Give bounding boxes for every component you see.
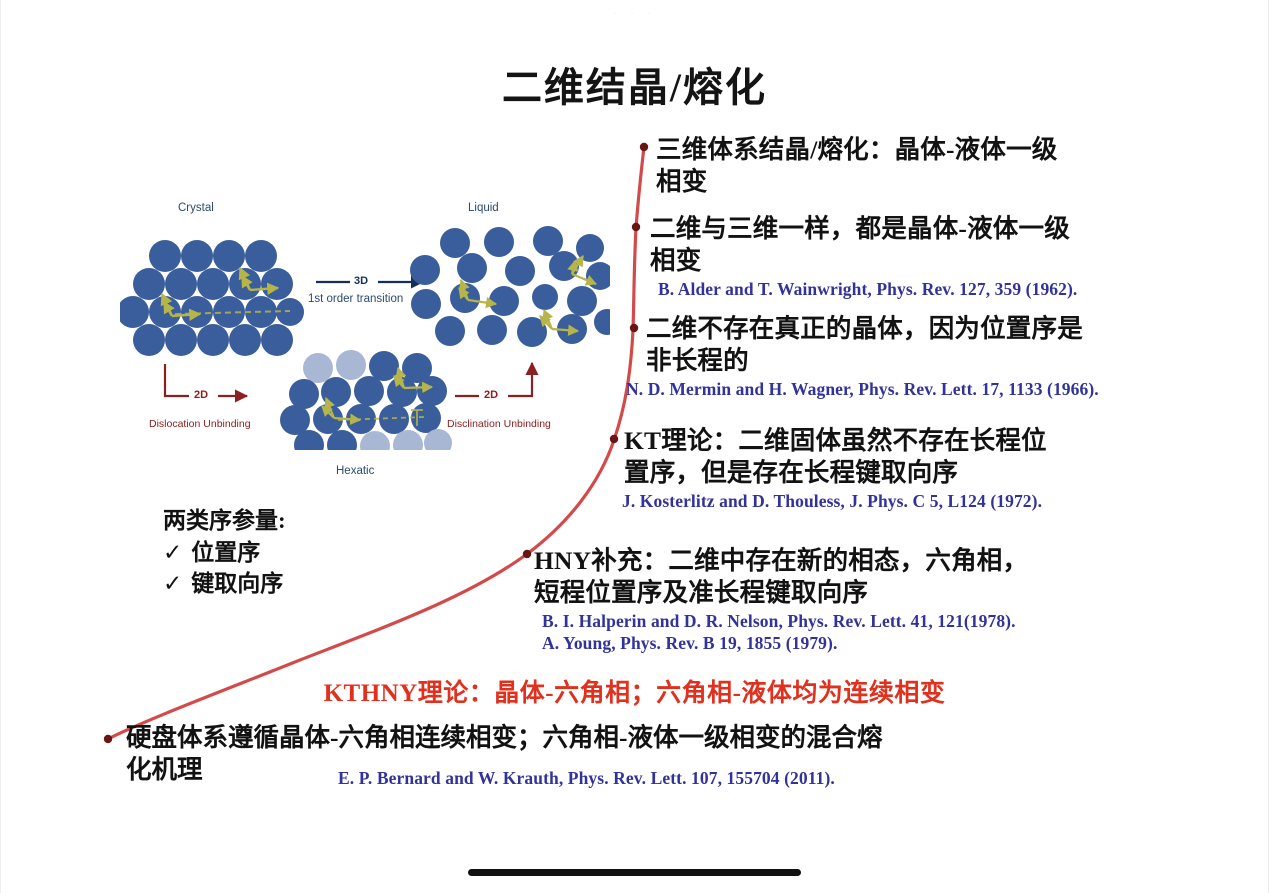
- bullet-hny: HNY补充：二维中存在新的相态，六角相， 短程位置序及准长程键取向序 B. I.…: [534, 545, 1028, 655]
- transition-3d-text: 1st order transition: [308, 293, 403, 305]
- order-parameter-item-0: ✓位置序: [163, 537, 286, 569]
- bullet-line: 二维不存在真正的晶体，因为位置序是: [646, 313, 1099, 345]
- diagram-label-3d: 3D: [354, 275, 368, 287]
- citation-halperin-nelson: B. I. Halperin and D. R. Nelson, Phys. R…: [542, 611, 1028, 654]
- bullet-3d-melting: 三维体系结晶/熔化：晶体-液体一级 相变: [656, 134, 1057, 197]
- order-parameters-block: 两类序参量: ✓位置序 ✓键取向序: [163, 505, 286, 600]
- diagram-label-crystal: Crystal: [178, 202, 214, 214]
- citation-text: B. I. Halperin and D. R. Nelson, Phys. R…: [542, 611, 1028, 633]
- bullet-line: 非长程的: [646, 345, 1099, 377]
- liquid-particles: [410, 226, 610, 347]
- page-title: 二维结晶/熔化: [0, 55, 1269, 113]
- order-parameter-item-1: ✓键取向序: [163, 568, 286, 600]
- hexatic-particles: [280, 350, 452, 450]
- diagram-label-hexatic: Hexatic: [336, 465, 374, 477]
- check-icon: ✓: [163, 571, 182, 596]
- bullet-line: HNY补充：二维中存在新的相态，六角相，: [534, 545, 1028, 577]
- citation-bernard-krauth-wrap: E. P. Bernard and W. Krauth, Phys. Rev. …: [338, 768, 835, 790]
- bullet-line: 相变: [656, 166, 1057, 198]
- crystal-particles: [120, 240, 304, 356]
- diagram-label-disclination-unbinding: Disclination Unbinding: [447, 418, 551, 430]
- bullet-line: KT理论：二维固体虽然不存在长程位: [624, 425, 1047, 457]
- diagram-label-liquid: Liquid: [468, 202, 499, 214]
- page-dots-indicator: • • •: [0, 8, 1269, 20]
- citation-mermin-wagner: N. D. Mermin and H. Wagner, Phys. Rev. L…: [626, 379, 1099, 401]
- citation-kosterlitz-thouless: J. Kosterlitz and D. Thouless, J. Phys. …: [622, 491, 1047, 513]
- bullet-line: 相变: [650, 245, 1077, 277]
- citation-text: N. D. Mermin and H. Wagner, Phys. Rev. L…: [626, 379, 1099, 401]
- bullet-line: 置序，但是存在长程键取向序: [624, 457, 1047, 489]
- citation-text: E. P. Bernard and W. Krauth, Phys. Rev. …: [338, 768, 835, 788]
- melting-diagram: Crystal Liquid Hexatic 3D 1st order tran…: [120, 198, 610, 450]
- bottom-line: 硬盘体系遵循晶体-六角相连续相变；六角相-液体一级相变的混合熔: [126, 722, 1126, 754]
- check-icon: ✓: [163, 540, 182, 565]
- diagram-label-first-order-transition: 1st order transition: [308, 293, 403, 305]
- citation-text: A. Young, Phys. Rev. B 19, 1855 (1979).: [542, 633, 1028, 655]
- citation-text: B. Alder and T. Wainwright, Phys. Rev. 1…: [658, 279, 1077, 301]
- diagram-label-dislocation-unbinding: Dislocation Unbinding: [149, 418, 251, 430]
- order-parameter-label-1: 键取向序: [191, 571, 283, 596]
- citation-alder: B. Alder and T. Wainwright, Phys. Rev. 1…: [658, 279, 1077, 301]
- order-parameter-label-0: 位置序: [191, 540, 260, 565]
- bullet-kt-theory: KT理论：二维固体虽然不存在长程位 置序，但是存在长程键取向序 J. Koste…: [624, 425, 1047, 513]
- diagram-label-2d-right: 2D: [484, 389, 498, 401]
- kthny-theory-statement: KTHNY理论：晶体-六角相；六角相-液体均为连续相变: [0, 673, 1269, 709]
- diagram-label-2d-left: 2D: [194, 389, 208, 401]
- home-indicator-bar[interactable]: [468, 869, 801, 876]
- melting-diagram-svg: [120, 198, 610, 450]
- order-parameters-heading: 两类序参量:: [163, 505, 286, 537]
- bullet-line: 二维与三维一样，都是晶体-液体一级: [650, 213, 1077, 245]
- bullet-line: 三维体系结晶/熔化：晶体-液体一级: [656, 134, 1057, 166]
- bullet-line: 短程位置序及准长程键取向序: [534, 577, 1028, 609]
- citation-text: J. Kosterlitz and D. Thouless, J. Phys. …: [622, 491, 1047, 513]
- bullet-no-true-crystal: 二维不存在真正的晶体，因为位置序是 非长程的 N. D. Mermin and …: [646, 313, 1099, 401]
- bullet-2d-like-3d: 二维与三维一样，都是晶体-液体一级 相变 B. Alder and T. Wai…: [650, 213, 1077, 301]
